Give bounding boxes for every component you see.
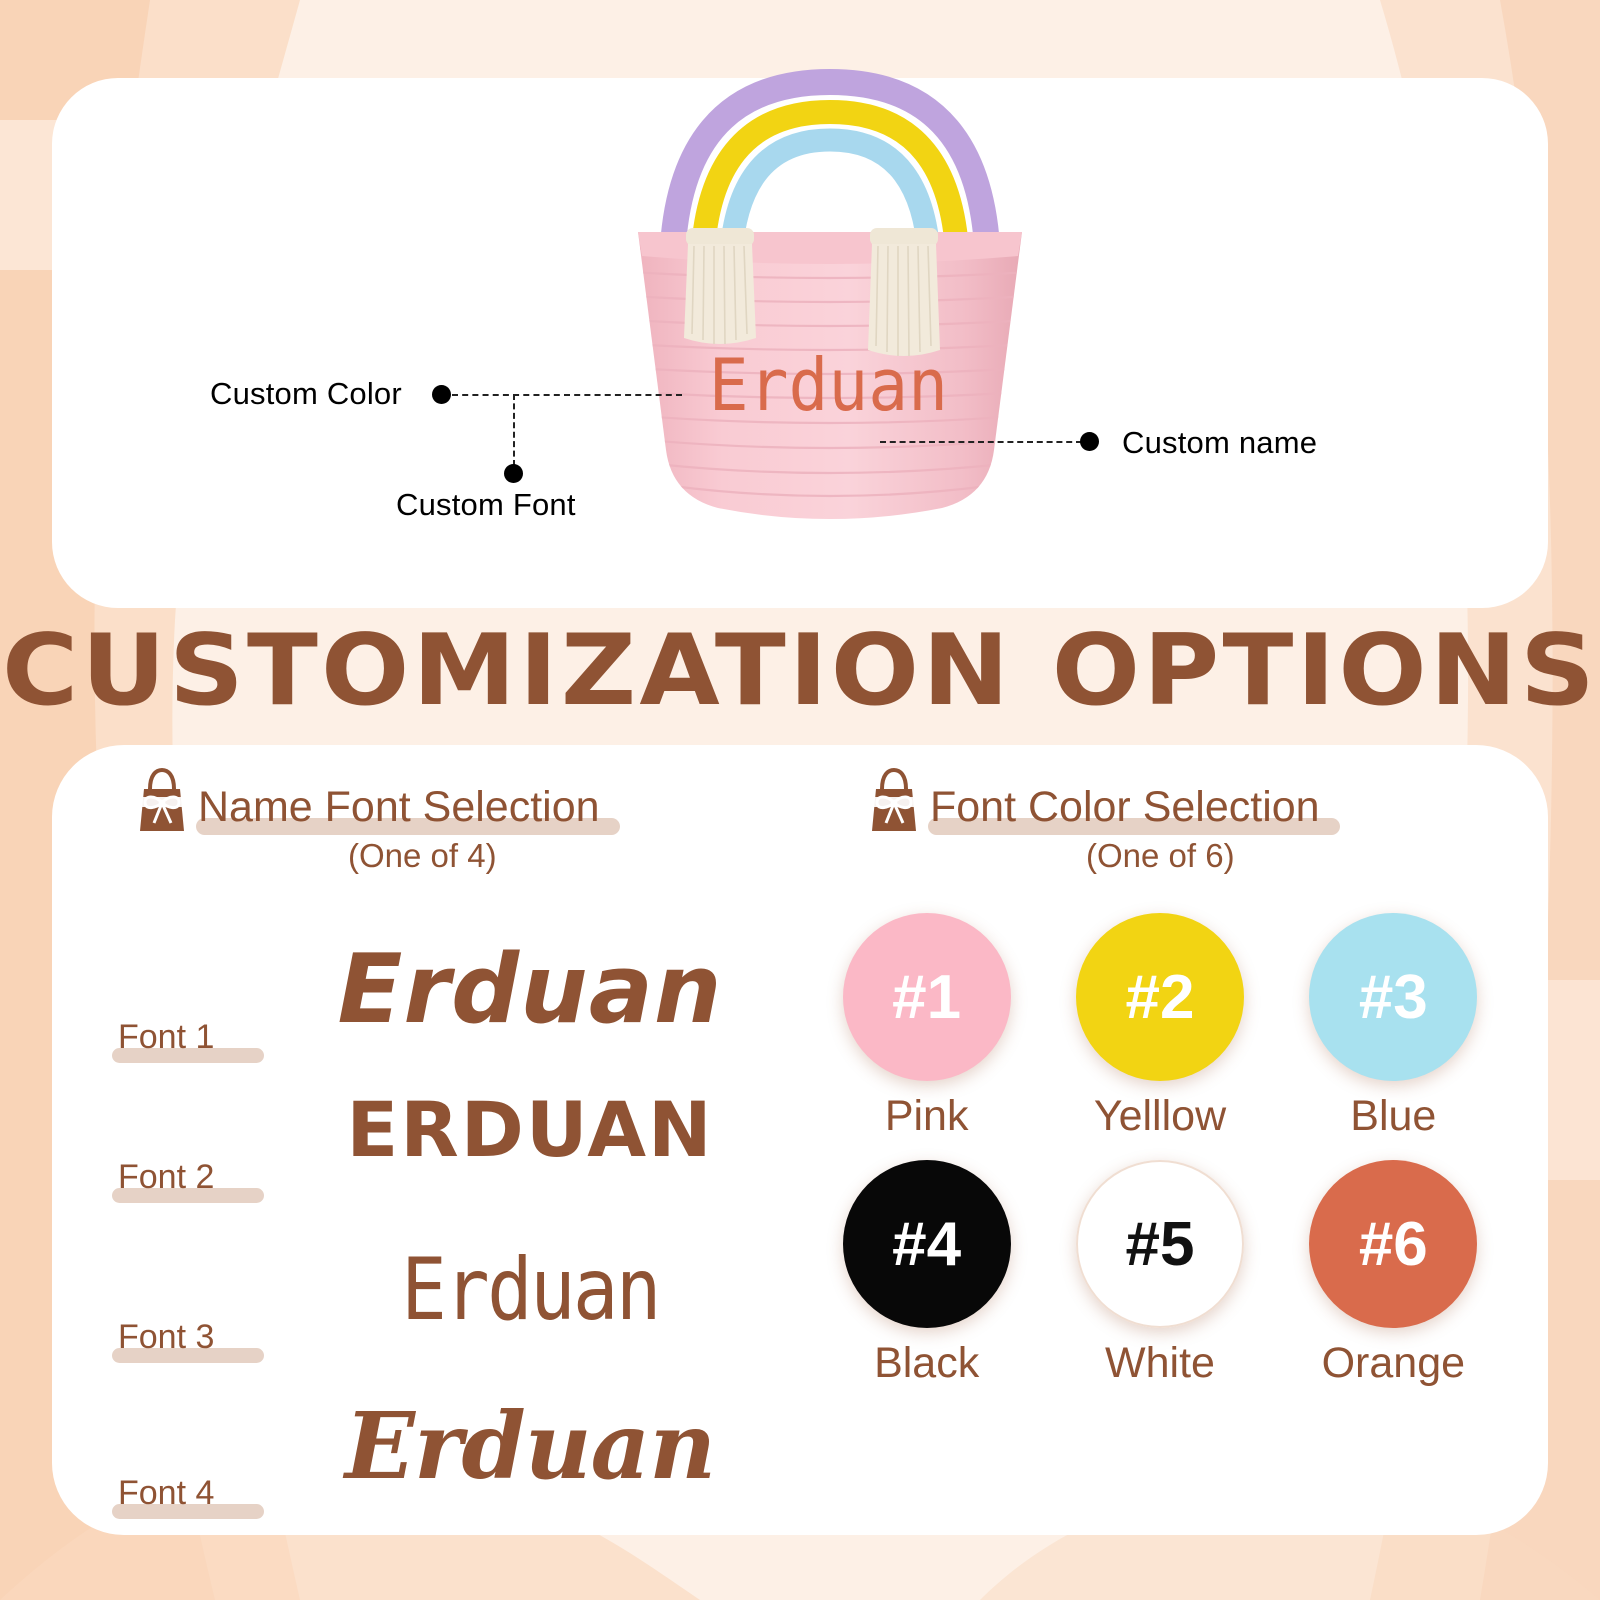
color-label-pink: Pink [885,1095,969,1138]
color-swatch-grid: #1 Pink #2 Yelllow #3 Blue #4 Black #5 W… [810,913,1510,1385]
callout-dot-custom-name [1080,432,1099,451]
font-option-1-sample: Erduan [268,943,792,1038]
font-option-1[interactable]: Font 1 Erduan [112,915,792,1065]
name-font-selection-subtitle: (One of 4) [348,837,497,875]
callout-label-custom-color: Custom Color [210,376,402,412]
color-option-5[interactable]: #5 White [1043,1160,1276,1385]
color-option-2[interactable]: #2 Yelllow [1043,913,1276,1138]
font-color-selection-title: Font Color Selection [928,786,1326,833]
handbag-icon [130,767,194,833]
color-swatch-white[interactable]: #5 [1076,1160,1244,1328]
color-label-white: White [1105,1342,1215,1385]
font-option-2[interactable]: Font 2 ERDUAN [112,1055,792,1205]
font-option-4-sample: Erduan [268,1400,792,1492]
font-option-4-tag: Font 4 [112,1476,268,1515]
color-label-yellow: Yelllow [1094,1095,1226,1138]
color-swatch-black[interactable]: #4 [843,1160,1011,1328]
color-label-orange: Orange [1322,1342,1465,1385]
name-font-selection-heading: Name Font Selection [130,767,606,833]
customization-options-card: Name Font Selection (One of 4) Font 1 Er… [52,745,1548,1535]
callout-line-custom-font [513,394,515,466]
font-color-selection-subtitle: (One of 6) [1086,837,1235,875]
font-option-4[interactable]: Font 4 Erduan [112,1371,792,1521]
name-font-selection-title: Name Font Selection [196,786,606,833]
callout-dot-custom-font [504,464,523,483]
callout-line-custom-color [452,394,682,396]
callout-label-custom-name: Custom name [1122,425,1317,461]
callout-label-custom-font: Custom Font [396,487,576,523]
bag-embroidered-name: Erduan [709,344,948,427]
color-option-3[interactable]: #3 Blue [1277,913,1510,1138]
color-label-black: Black [874,1342,979,1385]
font-option-2-sample: ERDUAN [268,1092,792,1168]
callout-line-custom-name [880,441,1082,443]
color-option-1[interactable]: #1 Pink [810,913,1043,1138]
callout-dot-custom-color [432,385,451,404]
handbag-icon [862,767,926,833]
color-swatch-orange[interactable]: #6 [1309,1160,1477,1328]
color-swatch-pink[interactable]: #1 [843,913,1011,1081]
color-swatch-yellow[interactable]: #2 [1076,913,1244,1081]
color-option-4[interactable]: #4 Black [810,1160,1043,1385]
color-swatch-blue[interactable]: #3 [1309,913,1477,1081]
font-option-3[interactable]: Font 3 Erduan [112,1215,792,1365]
font-option-3-sample: Erduan [299,1247,760,1333]
font-option-1-tag: Font 1 [112,1020,268,1059]
product-photo-bag: Erduan [580,20,1080,530]
color-option-6[interactable]: #6 Orange [1277,1160,1510,1385]
font-option-2-tag: Font 2 [112,1160,268,1199]
color-label-blue: Blue [1350,1095,1436,1138]
page-title: CUSTOMIZATION OPTIONS [0,614,1600,728]
font-color-selection-heading: Font Color Selection [862,767,1326,833]
font-option-3-tag: Font 3 [112,1320,268,1359]
